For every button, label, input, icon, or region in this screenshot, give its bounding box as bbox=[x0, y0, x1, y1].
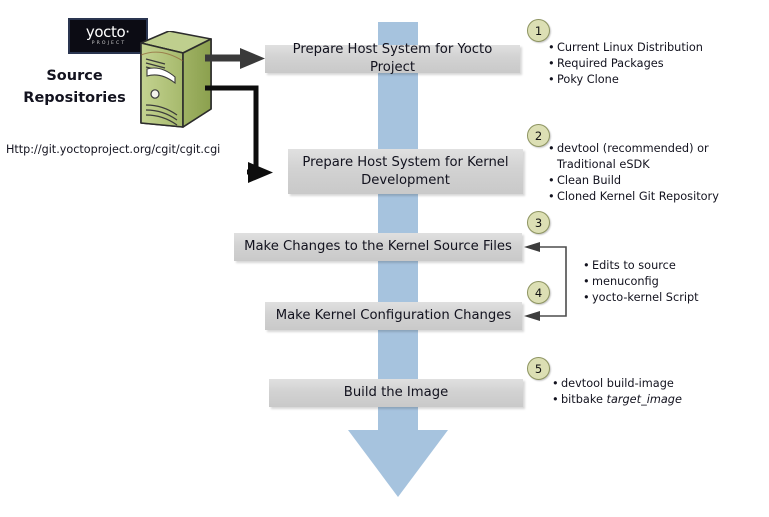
step-5-note-2: bitbake target_image bbox=[561, 392, 752, 408]
step-5-note-1: devtool build-image bbox=[561, 376, 752, 392]
list-item: • yocto-kernel Script bbox=[583, 290, 763, 306]
bullet-glyph: • bbox=[583, 258, 592, 274]
step-2-note-2: Clean Build bbox=[557, 173, 758, 189]
list-item: • Poky Clone bbox=[548, 72, 763, 88]
step-1-badge: 1 bbox=[527, 19, 550, 42]
step-3-number: 3 bbox=[535, 216, 542, 230]
step-1-note-3: Poky Clone bbox=[557, 72, 763, 88]
list-item: • bitbake target_image bbox=[552, 392, 752, 408]
list-item: • menuconfig bbox=[583, 274, 763, 290]
list-item: • devtool (recommended) or Traditional e… bbox=[548, 141, 758, 173]
feedback-arrow-to-step3 bbox=[524, 242, 540, 252]
step-1-notes: • Current Linux Distribution • Required … bbox=[548, 40, 763, 88]
bullet-glyph: • bbox=[552, 376, 561, 392]
bullet-glyph: • bbox=[548, 56, 557, 72]
step-1-note-1: Current Linux Distribution bbox=[557, 40, 763, 56]
bullet-glyph: • bbox=[548, 189, 557, 205]
bullet-glyph: • bbox=[548, 72, 557, 88]
list-item: • Required Packages bbox=[548, 56, 763, 72]
list-item: • Current Linux Distribution bbox=[548, 40, 763, 56]
list-item: • Clean Build bbox=[548, 173, 758, 189]
step-2-notes: • devtool (recommended) or Traditional e… bbox=[548, 141, 758, 205]
step-4-number: 4 bbox=[535, 286, 542, 300]
bullet-glyph: • bbox=[548, 173, 557, 189]
list-item: • Edits to source bbox=[583, 258, 763, 274]
step-2-note-3: Cloned Kernel Git Repository bbox=[557, 189, 758, 205]
step-2-number: 2 bbox=[535, 129, 542, 143]
feedback-arrow-to-step4 bbox=[524, 311, 540, 321]
step-5-badge: 5 bbox=[527, 357, 550, 380]
step-4-badge: 4 bbox=[527, 281, 550, 304]
step-3-badge: 3 bbox=[527, 211, 550, 234]
step-2-note-1: devtool (recommended) or Traditional eSD… bbox=[557, 141, 758, 173]
bullet-glyph: • bbox=[552, 392, 561, 408]
list-item: • devtool build-image bbox=[552, 376, 752, 392]
bullet-glyph: • bbox=[583, 274, 592, 290]
step-5-notes: • devtool build-image • bitbake target_i… bbox=[552, 376, 752, 408]
shared-note-1: Edits to source bbox=[592, 258, 763, 274]
step-5-note-2-target: target_image bbox=[607, 393, 682, 406]
shared-note-2: menuconfig bbox=[592, 274, 763, 290]
shared-note-3: yocto-kernel Script bbox=[592, 290, 763, 306]
bullet-glyph: • bbox=[548, 141, 557, 157]
step-1-note-2: Required Packages bbox=[557, 56, 763, 72]
bullet-glyph: • bbox=[548, 40, 557, 56]
bullet-glyph: • bbox=[583, 290, 592, 306]
step-5-note-2-prefix: bitbake bbox=[561, 393, 607, 406]
step-5-number: 5 bbox=[535, 362, 542, 376]
step-2-badge: 2 bbox=[527, 124, 550, 147]
diagram-canvas: yocto · PROJECT Source Repositories Http… bbox=[0, 0, 769, 517]
list-item: • Cloned Kernel Git Repository bbox=[548, 189, 758, 205]
steps-3-4-notes: • Edits to source • menuconfig • yocto-k… bbox=[583, 258, 763, 306]
step-1-number: 1 bbox=[535, 24, 542, 38]
